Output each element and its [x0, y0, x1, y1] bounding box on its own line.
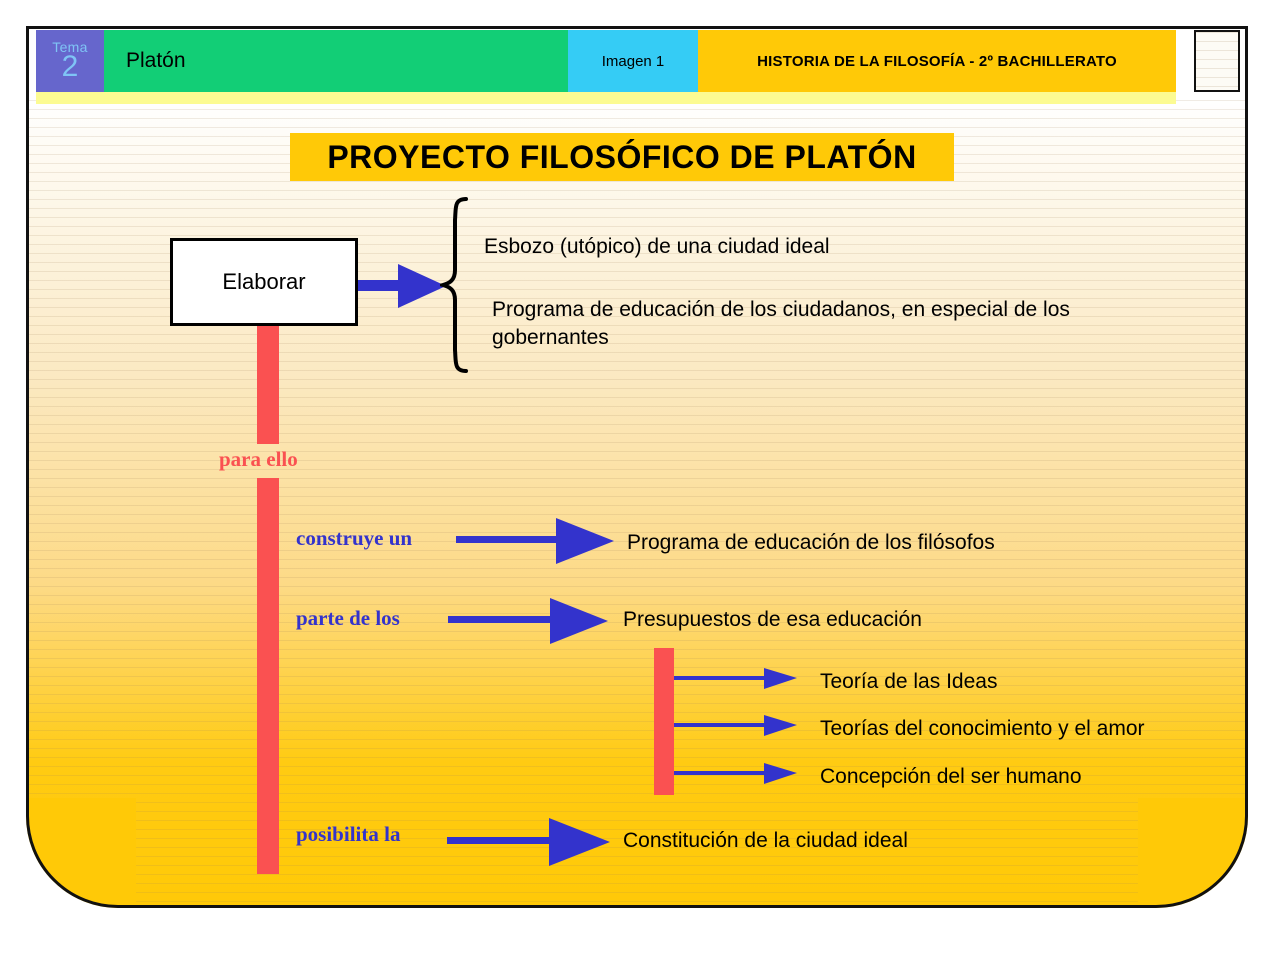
arrow-construye-un — [456, 515, 616, 567]
connector-label-construye-un: construye un — [296, 526, 412, 551]
brace-item-1: Esbozo (utópico) de una ciudad ideal — [484, 233, 1004, 261]
arrow-parte-de-los — [448, 595, 613, 647]
node-elaborar: Elaborar — [170, 238, 358, 326]
branch-target-filosofos: Programa de educación de los filósofos — [627, 529, 995, 557]
spine-label-para-ello: para ello — [219, 447, 298, 472]
branch-target-presupuestos: Presupuestos de esa educación — [623, 606, 922, 634]
connector-label-parte-de-los: parte de los — [296, 606, 400, 631]
diagram-content: Elaborar para ello Esbozo (utópico) de u… — [0, 0, 1280, 960]
sub-item-3: Concepción del ser humano — [820, 763, 1082, 791]
arrow-sub-1 — [674, 665, 799, 693]
slide-canvas: Tema 2 Platón Imagen 1 HISTORIA DE LA FI… — [0, 0, 1280, 960]
sub-group-bar — [654, 648, 674, 795]
sub-item-1: Teoría de las Ideas — [820, 668, 997, 696]
spine-bar-lower — [257, 478, 279, 874]
arrow-posibilita-la — [447, 816, 615, 868]
spine-bar-upper — [257, 326, 279, 444]
arrow-sub-3 — [674, 760, 799, 788]
brace-item-2: Programa de educación de los ciudadanos,… — [492, 296, 1192, 353]
branch-target-constitucion: Constitución de la ciudad ideal — [623, 827, 908, 855]
sub-item-2: Teorías del conocimiento y el amor — [820, 715, 1145, 743]
arrow-elaborar-to-brace — [358, 258, 448, 314]
curly-brace — [440, 196, 476, 374]
connector-label-posibilita-la: posibilita la — [296, 822, 400, 847]
arrow-sub-2 — [674, 712, 799, 740]
